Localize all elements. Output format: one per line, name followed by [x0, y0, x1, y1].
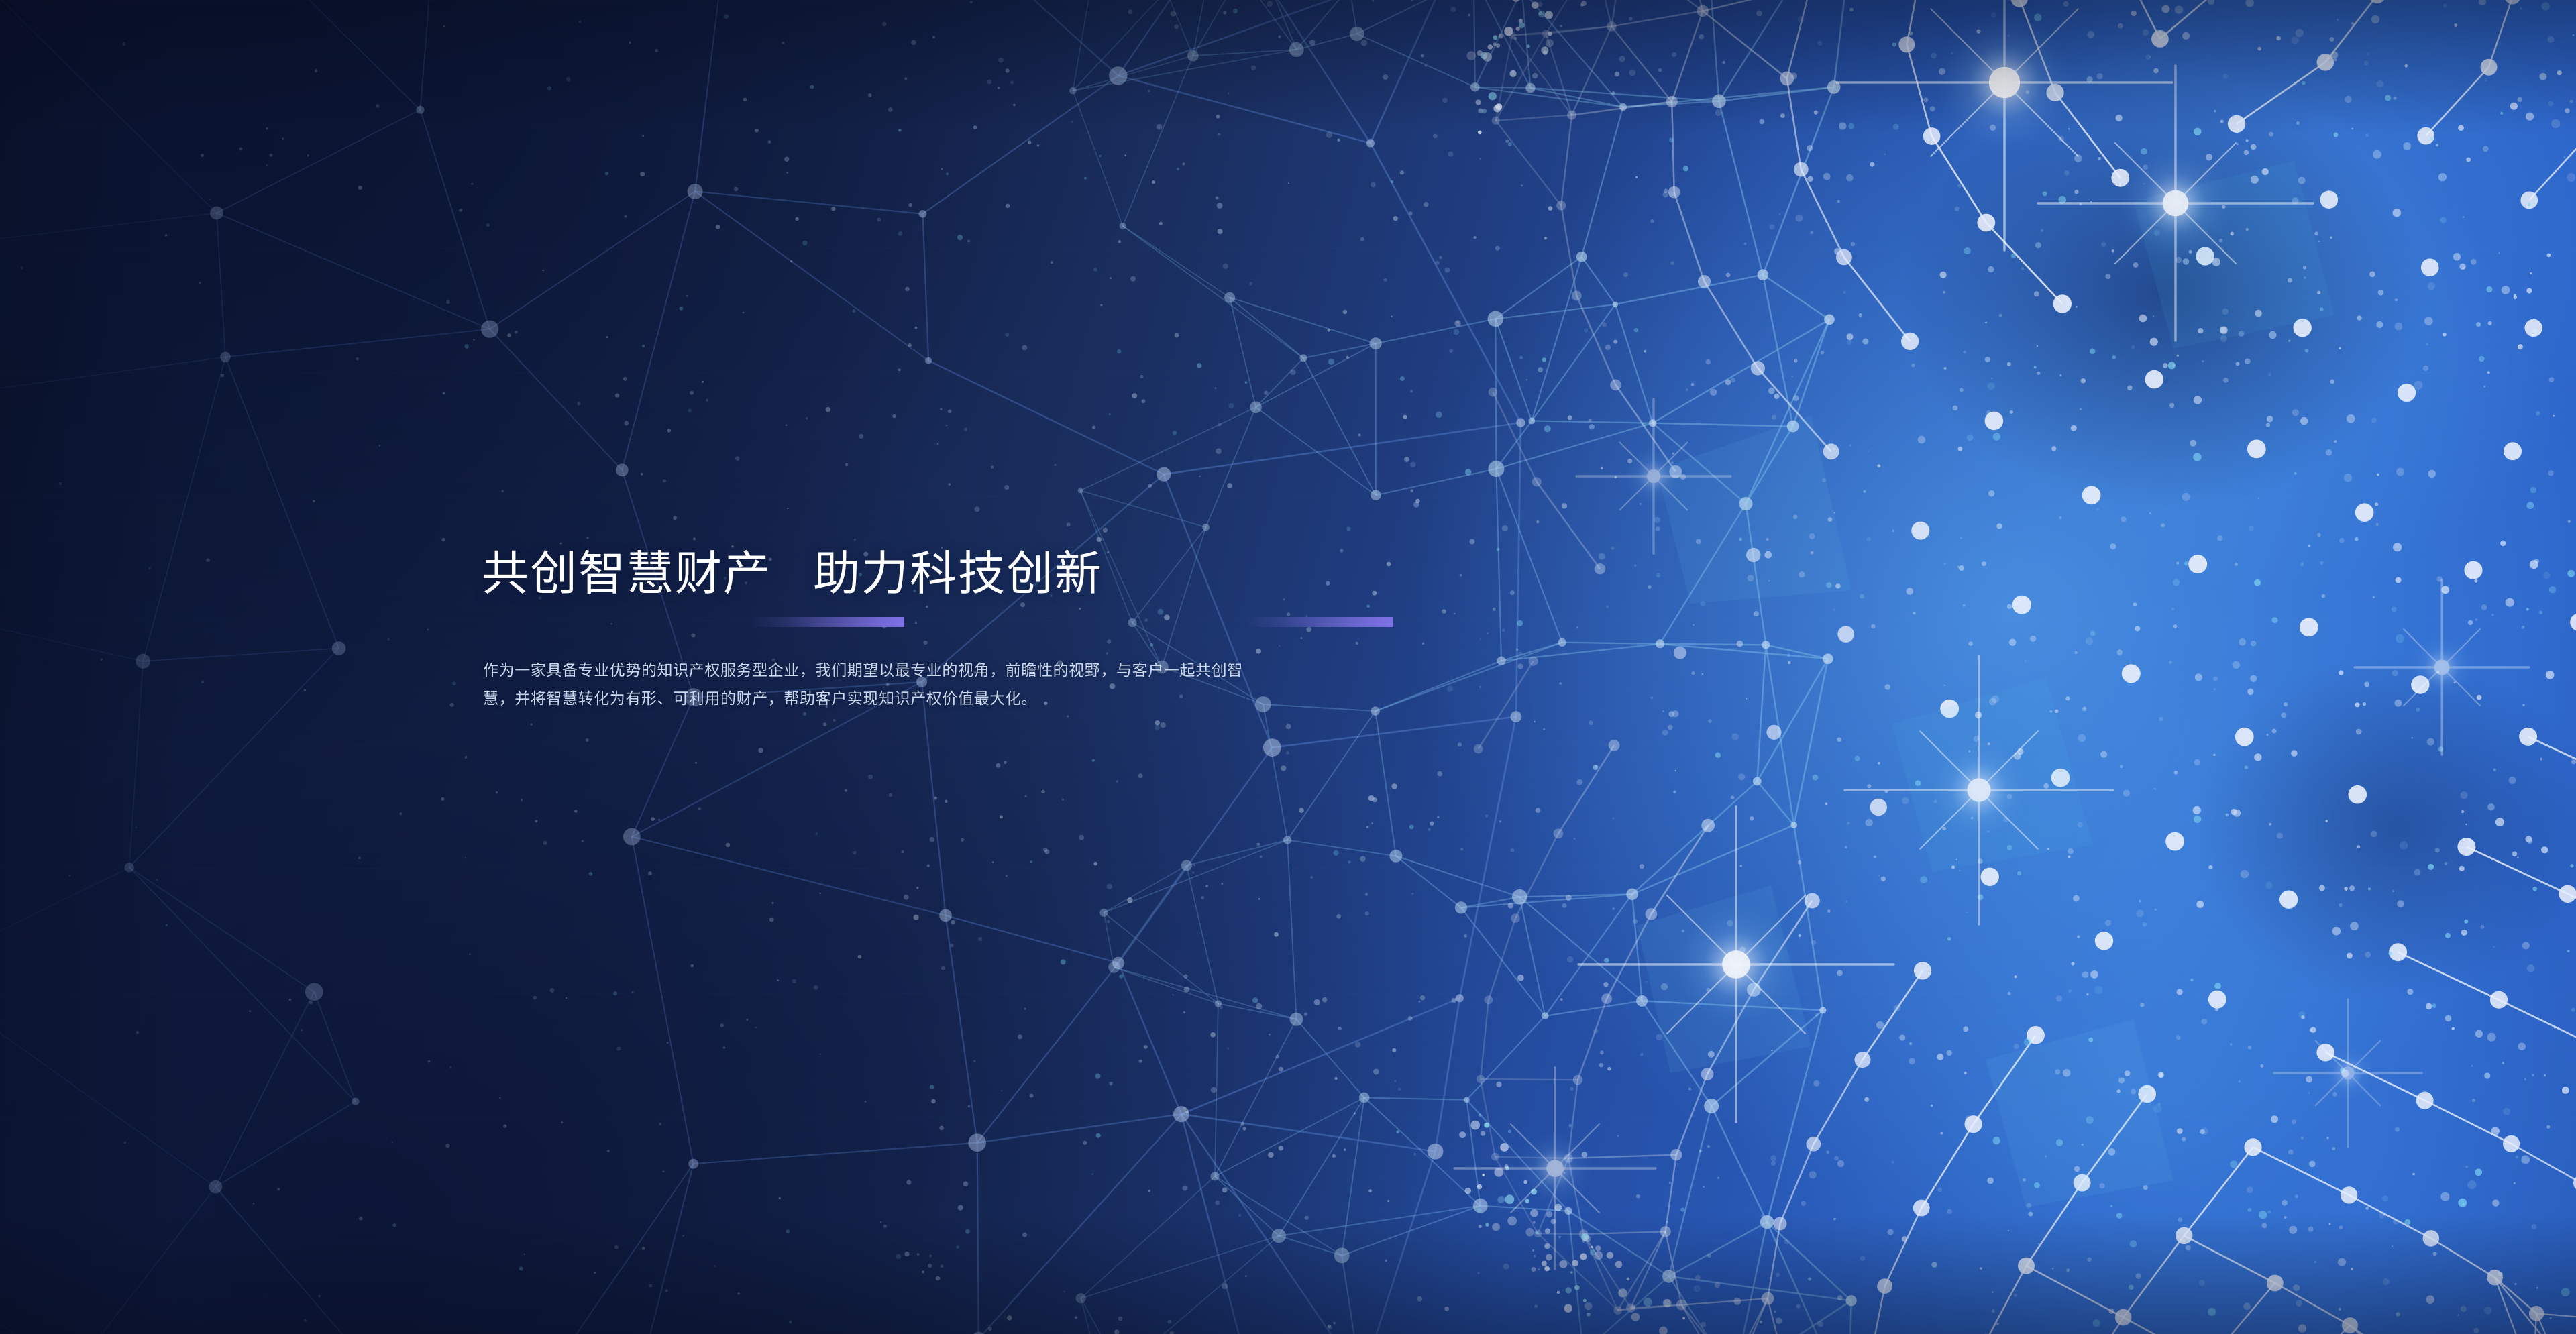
- hero-description: 作为一家具备专业优势的知识产权服务型企业，我们期望以最专业的视角，前瞻性的视野，…: [483, 656, 1258, 712]
- headline-phrase-1: 共创智慧财产: [482, 550, 771, 597]
- page-title: 共创智慧财产 助力科技创新: [482, 550, 1474, 597]
- headline-phrase-2: 助力科技创新: [813, 550, 1103, 597]
- accent-bar-row: [482, 610, 1474, 630]
- hero-banner: 共创智慧财产 助力科技创新 作为一家具备专业优势的知识产权服务型企业，我们期望以…: [0, 0, 2576, 1334]
- accent-bar-1: [751, 617, 904, 627]
- hero-content: 共创智慧财产 助力科技创新 作为一家具备专业优势的知识产权服务型企业，我们期望以…: [482, 550, 1474, 712]
- accent-bar-2: [1244, 617, 1393, 627]
